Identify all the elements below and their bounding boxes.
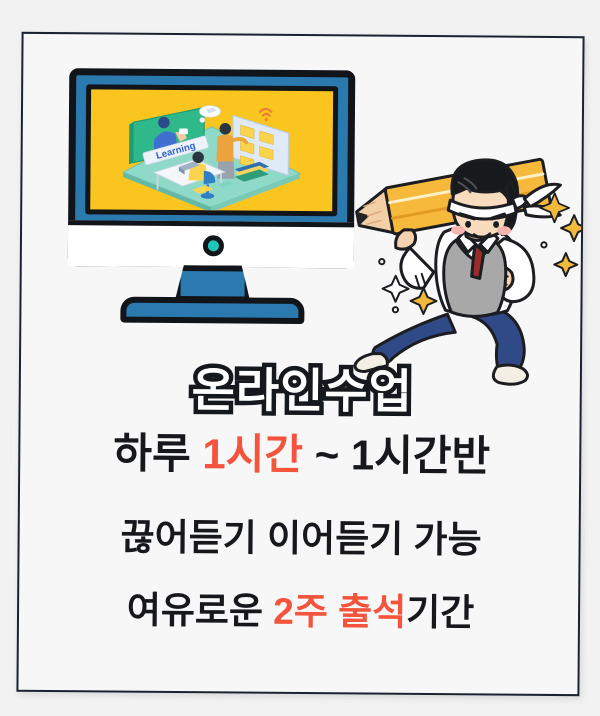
- highlighted-text: 2주 출석: [273, 591, 406, 633]
- plain-text: 기간: [406, 592, 474, 634]
- headline-online-class: 온라인수업: [21, 350, 583, 423]
- monitor-camera-dot: [203, 235, 224, 256]
- highlighted-text: 1시간: [202, 430, 303, 478]
- online-learning-scene-icon: Learning: [90, 89, 333, 216]
- body-line-attendance: 여유로운 2주 출석기간: [19, 591, 582, 632]
- monitor-stand-base: [120, 297, 304, 324]
- poster-root: Learning: [0, 0, 600, 716]
- plain-text: 끊어듣기 이어듣기 가능: [120, 517, 481, 561]
- plain-text: ~ 1시간반: [303, 431, 491, 479]
- plain-text: 하루: [113, 430, 202, 478]
- body-lines: 하루 1시간 ~ 1시간반 끊어듣기 이어듣기 가능 여유로운 2주 출석기간: [19, 432, 583, 632]
- body-line-flexibility: 끊어듣기 이어듣기 가능: [19, 518, 582, 559]
- poster-card-inner: Learning: [18, 34, 582, 694]
- poster-card: Learning: [16, 32, 584, 696]
- sparkle-dot-icon: [541, 242, 546, 247]
- sparkle-dot-icon: [379, 259, 384, 264]
- body-line-duration: 하루 1시간 ~ 1시간반: [20, 432, 582, 478]
- monitor-screen: Learning: [85, 84, 338, 216]
- monitor-illustration: Learning: [67, 68, 359, 335]
- sparkle-icon: [410, 288, 436, 314]
- plain-text: 여유로운: [127, 590, 274, 632]
- sparkle-icon: [554, 253, 577, 276]
- sparkle-icon: [561, 215, 583, 241]
- sparkle-dot-icon: [393, 307, 398, 312]
